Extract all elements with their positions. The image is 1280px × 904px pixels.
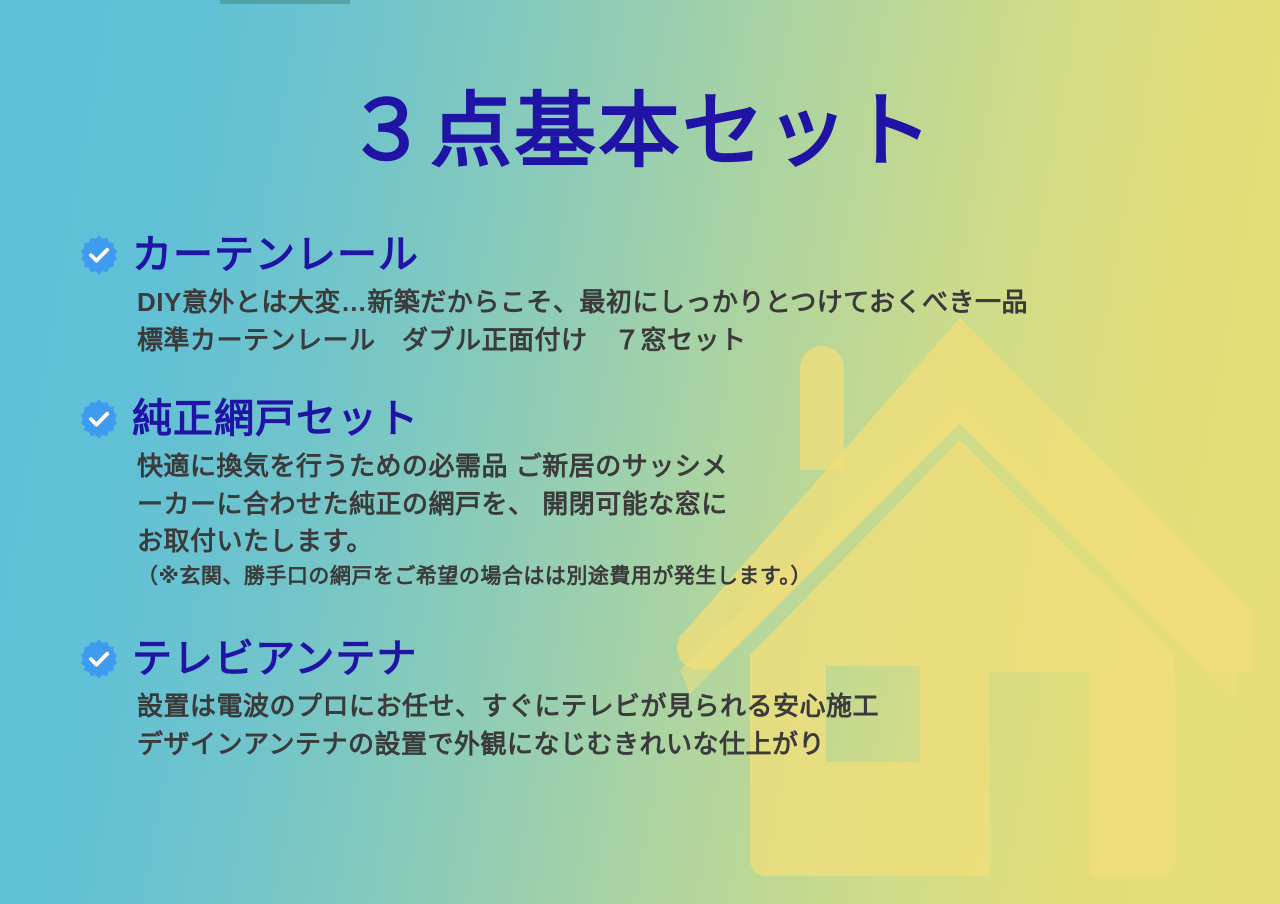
- feature-heading: カーテンレール: [132, 235, 419, 275]
- feature-heading: 純正網戸セット: [132, 399, 419, 439]
- feature-description-line: 設置は電波のプロにお任せ、すぐにテレビが見られる安心施工: [137, 688, 1238, 726]
- feature-description-note: （※玄関、勝手口の網戸をご希望の場合はは別途費用が発生します。）: [137, 561, 1238, 593]
- feature-item-tv-antenna: テレビアンテナ 設置は電波のプロにお任せ、すぐにテレビが見られる安心施工 デザイ…: [78, 632, 1238, 763]
- feature-description: 設置は電波のプロにお任せ、すぐにテレビが見られる安心施工 デザインアンテナの設置…: [137, 688, 1238, 763]
- feature-heading-row: 純正網戸セット: [78, 392, 1238, 446]
- promo-poster: ３点基本セット カーテンレール DIY意外とは大変…新築だからこそ、最初にしっか…: [0, 0, 1280, 904]
- feature-heading: テレビアンテナ: [132, 639, 417, 679]
- feature-description-line: お取付いたします。: [137, 523, 1238, 561]
- feature-description-line: 快適に換気を行うための必需品 ご新居のサッシメ: [137, 448, 1238, 486]
- feature-description-line: DIY意外とは大変…新築だからこそ、最初にしっかりとつけておくべき一品: [137, 284, 1238, 322]
- feature-description: 快適に換気を行うための必需品 ご新居のサッシメ ーカーに合わせた純正の網戸を、 …: [137, 448, 1238, 593]
- feature-item-curtain-rail: カーテンレール DIY意外とは大変…新築だからこそ、最初にしっかりとつけておくべ…: [78, 228, 1238, 359]
- feature-description-line: 標準カーテンレール ダブル正面付け ７窓セット: [137, 322, 1238, 360]
- feature-description: DIY意外とは大変…新築だからこそ、最初にしっかりとつけておくべき一品 標準カー…: [137, 284, 1238, 359]
- feature-description-line: デザインアンテナの設置で外観になじむきれいな仕上がり: [137, 726, 1238, 764]
- feature-item-screen-door: 純正網戸セット 快適に換気を行うための必需品 ご新居のサッシメ ーカーに合わせた…: [78, 392, 1238, 593]
- verified-check-icon: [78, 398, 120, 440]
- feature-heading-row: テレビアンテナ: [78, 632, 1238, 686]
- feature-description-line: ーカーに合わせた純正の網戸を、 開閉可能な窓に: [137, 486, 1238, 524]
- feature-heading-row: カーテンレール: [78, 228, 1238, 282]
- feature-list: カーテンレール DIY意外とは大変…新築だからこそ、最初にしっかりとつけておくべ…: [0, 0, 1280, 904]
- verified-check-icon: [78, 638, 120, 680]
- verified-check-icon: [78, 234, 120, 276]
